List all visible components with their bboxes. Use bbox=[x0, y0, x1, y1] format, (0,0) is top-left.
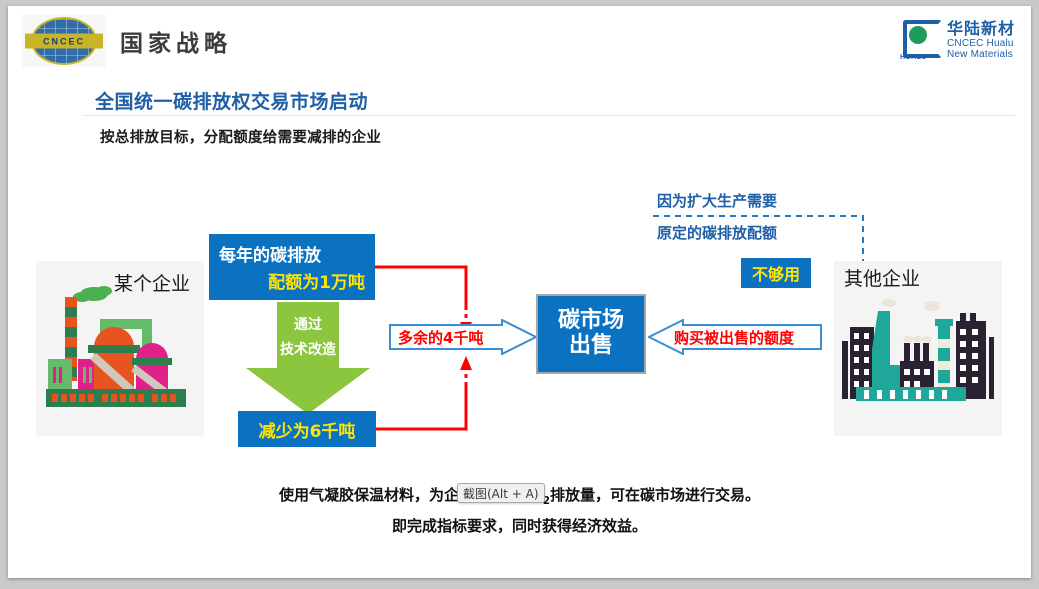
green-arrow-line2: 技术改造 bbox=[246, 338, 370, 363]
hualu-logo-icon: HUALU bbox=[900, 20, 940, 60]
page-subtitle: 按总排放目标，分配额度给需要减排的企业 bbox=[100, 126, 381, 147]
hualu-english-line1: CNCEC Hualu bbox=[947, 38, 1015, 49]
surplus-arrow-text: 多余的4千吨 bbox=[398, 327, 483, 348]
hualu-mark-word: HUALU bbox=[900, 54, 927, 61]
cncec-logo-text: CNCEC bbox=[43, 36, 85, 46]
annual-emission-box: 每年的碳排放 配额为1万吨 bbox=[209, 234, 375, 300]
hualu-english-line2: New Materials bbox=[947, 49, 1015, 60]
not-enough-box: 不够用 bbox=[741, 258, 811, 288]
slide-canvas: CNCEC 国家战略 HUALU 华陆新材 CNCEC Hualu New Ma… bbox=[8, 6, 1031, 578]
not-enough-text: 不够用 bbox=[752, 261, 800, 285]
right-company-label: 其他企业 bbox=[844, 264, 920, 291]
summary-line-2: 即完成指标要求，同时获得经济效益。 bbox=[8, 515, 1031, 536]
header-right-brand: HUALU 华陆新材 CNCEC Hualu New Materials bbox=[900, 20, 1015, 60]
annual-emission-line2: 配额为1万吨 bbox=[219, 268, 365, 293]
cncec-logo-icon: CNCEC bbox=[22, 15, 106, 67]
brand-title: 国家战略 bbox=[120, 24, 232, 58]
carbon-market-box: 碳市场 出售 bbox=[536, 294, 646, 374]
page-title: 全国统一碳排放权交易市场启动 bbox=[95, 87, 368, 114]
summary-line1-part3: 排放量，可在碳市场进行交易。 bbox=[550, 486, 760, 504]
reduced-emission-box: 减少为6千吨 bbox=[238, 411, 376, 447]
technology-upgrade-arrow: 通过 技术改造 bbox=[246, 302, 370, 414]
screenshot-shortcut-tooltip: 截图(Alt + A) bbox=[457, 483, 545, 503]
hualu-chinese-name: 华陆新材 bbox=[947, 20, 1015, 38]
expansion-note-line2: 原定的碳排放配额 bbox=[657, 222, 777, 243]
header-left-brand: CNCEC 国家战略 bbox=[22, 15, 232, 67]
left-company-label: 某个企业 bbox=[114, 269, 190, 296]
expansion-note-line1: 因为扩大生产需要 bbox=[657, 190, 777, 211]
reduced-emission-line1: 减少为6千吨 bbox=[259, 417, 356, 442]
hualu-wordmark: 华陆新材 CNCEC Hualu New Materials bbox=[947, 20, 1015, 60]
buy-arrow-callout: 购买被出售的额度 bbox=[648, 319, 822, 355]
carbon-market-line2: 出售 bbox=[569, 334, 613, 359]
surplus-arrow-callout: 多余的4千吨 bbox=[389, 319, 537, 355]
carbon-market-line1: 碳市场 bbox=[558, 309, 624, 334]
green-arrow-line1: 通过 bbox=[246, 313, 370, 338]
technology-upgrade-text: 通过 技术改造 bbox=[246, 313, 370, 362]
title-divider bbox=[83, 115, 1015, 116]
buy-arrow-text: 购买被出售的额度 bbox=[674, 327, 794, 348]
annual-emission-line1: 每年的碳排放 bbox=[219, 241, 365, 266]
summary-line1-part1: 使用气凝胶保温材料，为 bbox=[279, 486, 444, 504]
